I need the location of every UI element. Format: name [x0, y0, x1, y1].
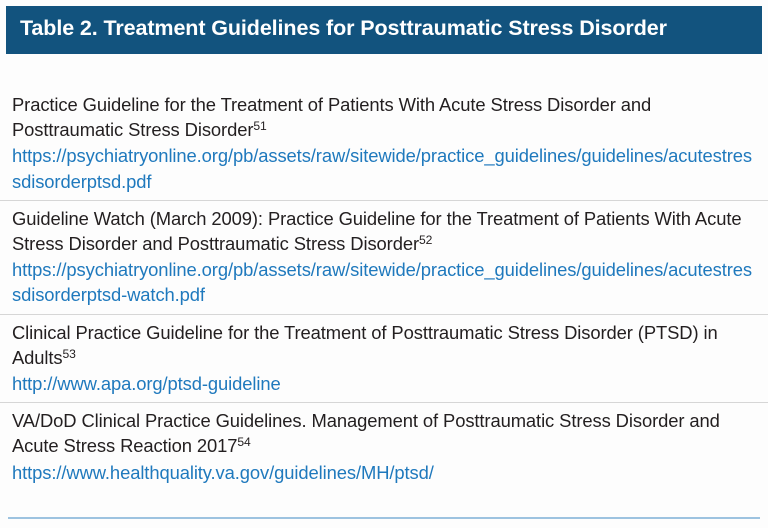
- guideline-title: VA/DoD Clinical Practice Guidelines. Man…: [12, 408, 756, 458]
- guideline-url-link[interactable]: https://psychiatryonline.org/pb/assets/r…: [12, 143, 756, 193]
- guideline-title: Practice Guideline for the Treatment of …: [12, 92, 756, 142]
- table-figure: Table 2. Treatment Guidelines for Posttr…: [0, 0, 768, 528]
- table-bottom-rule: [8, 517, 760, 519]
- table-row: Clinical Practice Guideline for the Trea…: [0, 314, 768, 403]
- guideline-url-link[interactable]: https://www.healthquality.va.gov/guideli…: [12, 460, 756, 485]
- reference-marker: 51: [253, 119, 266, 133]
- table-row: VA/DoD Clinical Practice Guidelines. Man…: [0, 402, 768, 491]
- reference-marker: 52: [419, 233, 432, 247]
- table-title: Table 2. Treatment Guidelines for Posttr…: [20, 15, 748, 43]
- guideline-title-text: Guideline Watch (March 2009): Practice G…: [12, 208, 741, 254]
- guideline-title-text: Clinical Practice Guideline for the Trea…: [12, 322, 718, 368]
- table-body: Practice Guideline for the Treatment of …: [0, 88, 768, 491]
- guideline-title: Clinical Practice Guideline for the Trea…: [12, 320, 756, 370]
- reference-marker: 53: [63, 347, 76, 361]
- guideline-url-link[interactable]: http://www.apa.org/ptsd-guideline: [12, 371, 756, 396]
- table-row: Guideline Watch (March 2009): Practice G…: [0, 200, 768, 314]
- guideline-title: Guideline Watch (March 2009): Practice G…: [12, 206, 756, 256]
- table-row: Practice Guideline for the Treatment of …: [0, 88, 768, 200]
- guideline-title-text: VA/DoD Clinical Practice Guidelines. Man…: [12, 410, 720, 456]
- guideline-title-text: Practice Guideline for the Treatment of …: [12, 94, 651, 140]
- reference-marker: 54: [237, 436, 250, 450]
- guideline-url-link[interactable]: https://psychiatryonline.org/pb/assets/r…: [12, 257, 756, 307]
- table-header: Table 2. Treatment Guidelines for Posttr…: [6, 6, 762, 54]
